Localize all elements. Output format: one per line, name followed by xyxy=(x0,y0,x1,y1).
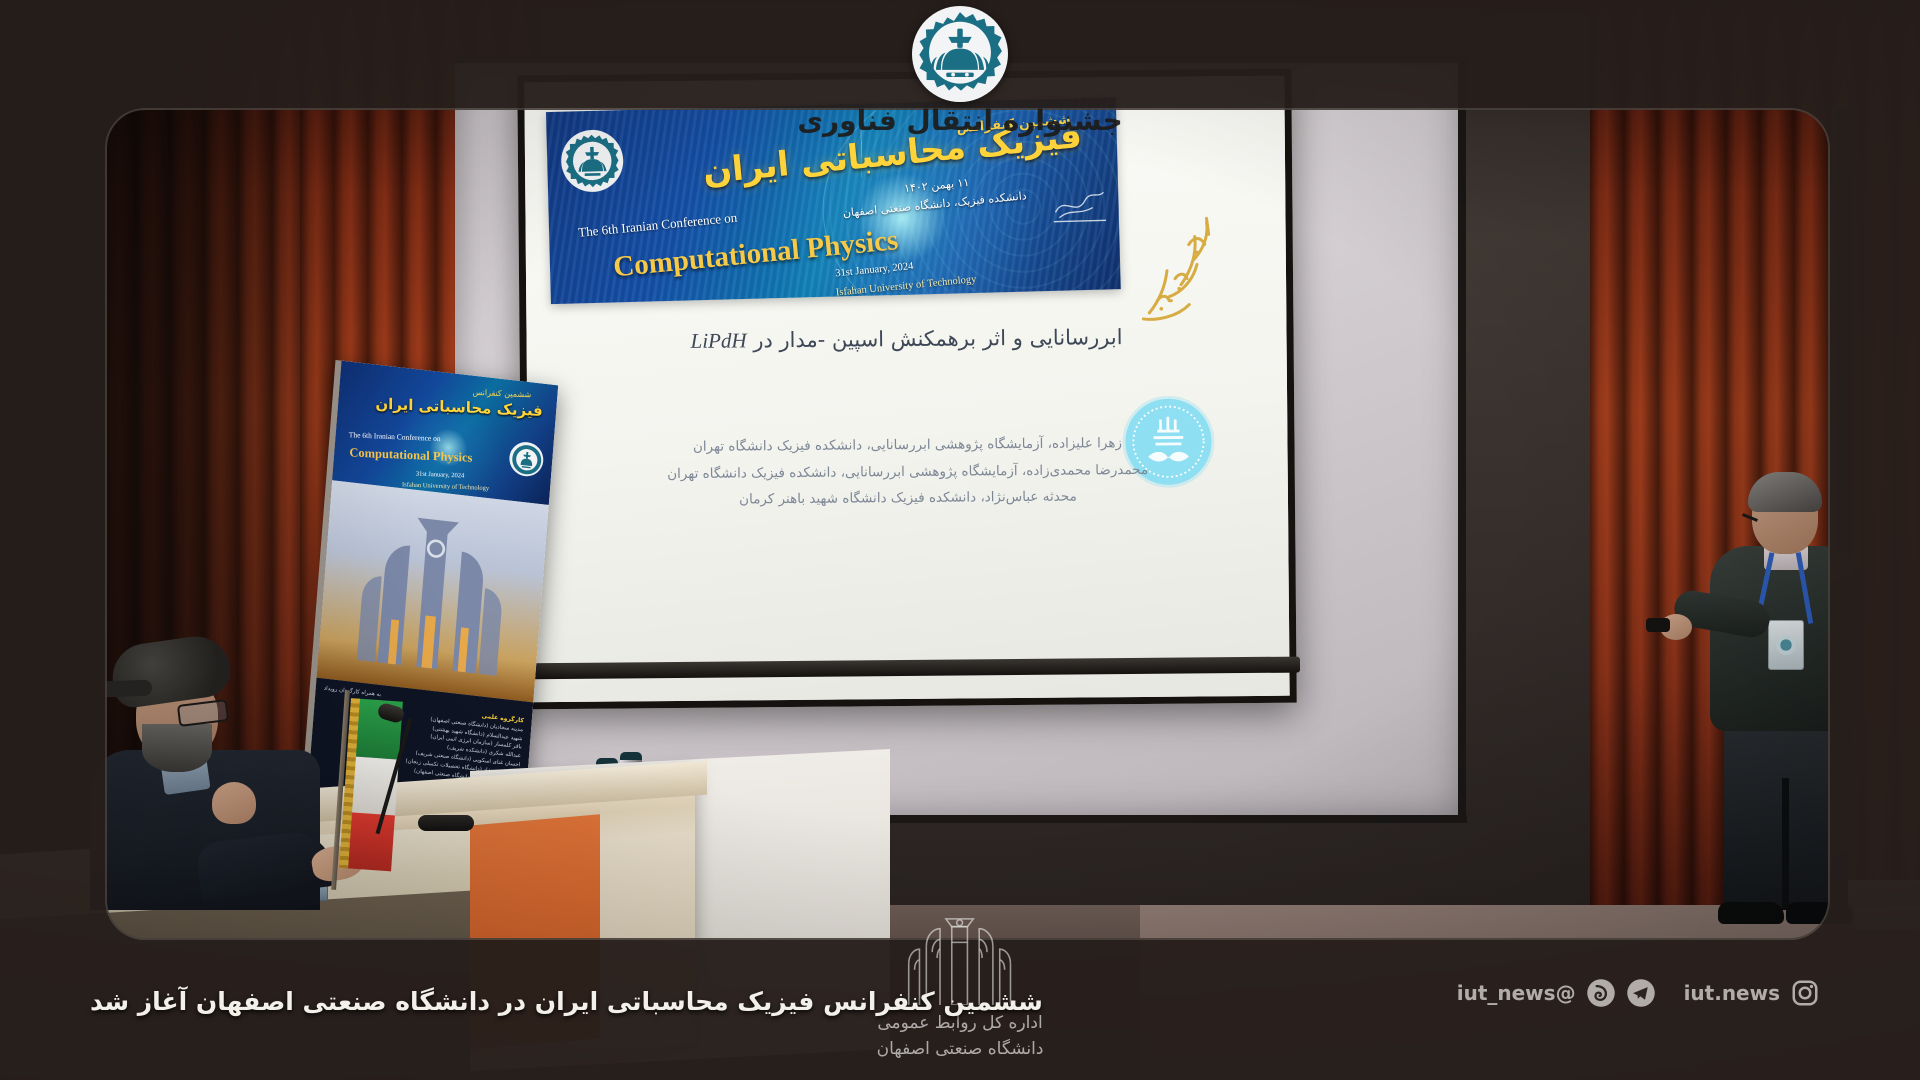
telegram-icon[interactable] xyxy=(1626,978,1656,1008)
presenter-hair xyxy=(1748,472,1822,512)
projection-screen: ششمین کنفرانس فیزیک محاسباتی ایران ۱۱ به… xyxy=(517,69,1297,710)
news-caption: ششمین کنفرانس فیزیک محاسباتی ایران در دا… xyxy=(90,987,1043,1016)
presenter-shoe xyxy=(1718,902,1784,924)
iut-gear-logo-icon xyxy=(912,6,1008,102)
bale-icon[interactable] xyxy=(1586,978,1616,1008)
seated-chairperson xyxy=(90,640,320,900)
author-line: محدثه عباس‌نژاد، دانشکده فیزیک دانشگاه ش… xyxy=(589,482,1228,514)
iut-gear-logo-icon xyxy=(560,129,624,193)
standee-artwork xyxy=(317,481,549,703)
iut-gear-logo-icon xyxy=(508,441,544,479)
banner-calligraphy-signature-icon xyxy=(1050,182,1107,225)
presentation-slide: ششمین کنفرانس فیزیک محاسباتی ایران ۱۱ به… xyxy=(524,76,1289,703)
slide-title-fa: ابررسانایی و اثر برهمکنش اسپین -مدار در xyxy=(753,325,1122,352)
slide-title: ابررسانایی و اثر برهمکنش اسپین -مدار در … xyxy=(572,324,1241,355)
presenter-badge xyxy=(1768,620,1804,670)
standing-presenter xyxy=(1690,478,1890,938)
bismillah-calligraphy-icon xyxy=(1122,200,1233,341)
head-table-front xyxy=(0,891,470,1080)
presenter-leg-split xyxy=(1782,778,1789,910)
chairperson-glasses xyxy=(177,699,229,727)
flag-red-band xyxy=(345,812,395,871)
instagram-icon[interactable] xyxy=(1790,978,1820,1008)
photo-card: ششمین کنفرانس فیزیک محاسباتی ایران ۱۱ به… xyxy=(0,0,1920,1080)
slide-title-compound: LiPdH xyxy=(690,328,746,352)
iut-gate-monument-icon xyxy=(332,494,533,697)
chairperson-beard xyxy=(142,724,212,772)
author-line: محمدرضا محمدی‌زاده، آزمایشگاه پژوهشی ابر… xyxy=(588,456,1227,488)
standee-fa-kicker: ششمین کنفرانس xyxy=(472,387,531,399)
chairperson-hand xyxy=(212,782,256,824)
messenger-handle[interactable]: @iut_news xyxy=(1457,981,1576,1005)
presenter-shoe xyxy=(1786,902,1852,924)
watermark-line-2: دانشگاه صنعتی اصفهان xyxy=(877,1037,1044,1063)
standee-en-date: 31st January, 2024 xyxy=(416,470,464,479)
instagram-handle[interactable]: iut.news xyxy=(1684,981,1780,1005)
standee-en-title: Computational Physics xyxy=(350,446,473,466)
top-strip-text: جشنواره انتقال فناوری xyxy=(797,104,1122,137)
presentation-clicker xyxy=(1646,618,1670,632)
sheet-edge-right xyxy=(1458,56,1466,822)
social-handles-row: iut.news @iut_news xyxy=(1457,978,1820,1008)
standee-en-kicker: The 6th Iranian Conference on xyxy=(349,430,441,443)
banner-en-kicker: The 6th Iranian Conference on xyxy=(577,209,737,240)
slide-authors: زهرا علیزاده، آزمایشگاه پژوهشی ابررسانای… xyxy=(588,430,1227,515)
iran-flag xyxy=(339,698,411,872)
microphone-base xyxy=(418,815,474,831)
